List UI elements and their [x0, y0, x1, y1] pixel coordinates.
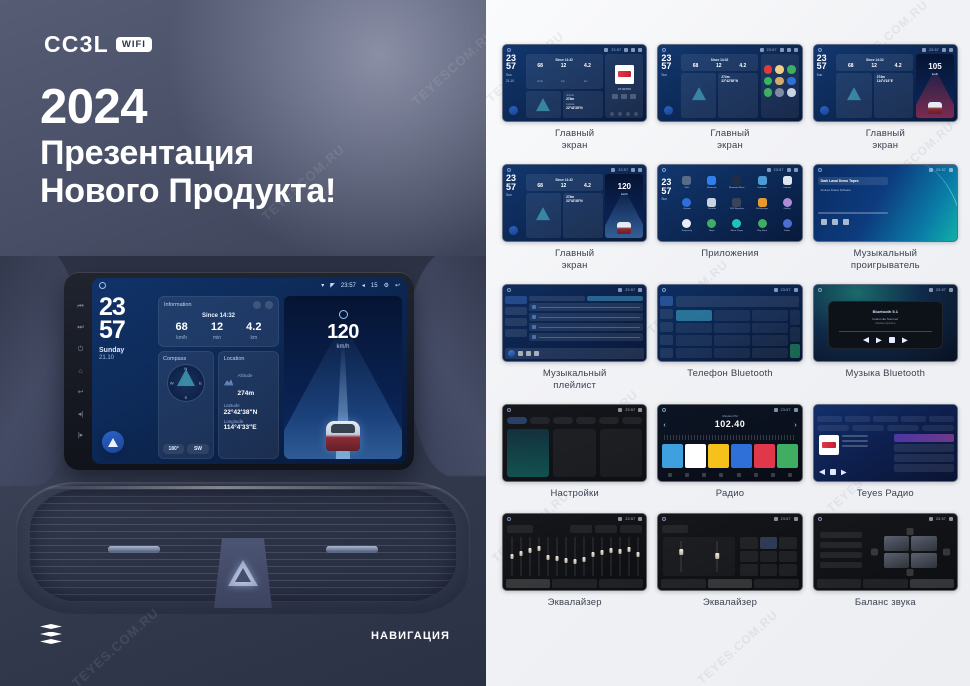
- stop-icon[interactable]: [830, 469, 836, 475]
- preset-6[interactable]: [777, 444, 798, 468]
- information-card[interactable]: Since 14:32 68 12 4.2: [526, 174, 603, 191]
- reset-button[interactable]: [570, 525, 592, 533]
- bluetooth-music-app-icon[interactable]: [732, 176, 741, 185]
- more-card[interactable]: [600, 429, 642, 477]
- power-key[interactable]: ⏻: [78, 346, 84, 353]
- tab-genres[interactable]: [845, 416, 870, 422]
- preset-rock[interactable]: [779, 537, 796, 549]
- frequency-scale[interactable]: [664, 435, 795, 440]
- tab-recent[interactable]: [929, 416, 954, 422]
- key-0[interactable]: [714, 348, 750, 359]
- band-slider[interactable]: [553, 537, 560, 576]
- progress-bar[interactable]: [839, 331, 932, 332]
- settings-tabs[interactable]: [507, 417, 642, 424]
- sidebar-item-folders[interactable]: [505, 329, 527, 337]
- hazard-light-button[interactable]: [214, 538, 272, 608]
- dialer-sidebar[interactable]: [660, 296, 673, 358]
- volume-down-key[interactable]: ◂|: [78, 411, 83, 418]
- load-preset-button[interactable]: [620, 525, 642, 533]
- tab-eq[interactable]: [661, 579, 705, 588]
- speaker-front-left[interactable]: [884, 536, 910, 551]
- key-9[interactable]: [752, 335, 788, 346]
- station-row[interactable]: [894, 444, 954, 452]
- gallery-item[interactable]: 23:57 23 57 Sun Since 14:: [502, 164, 647, 271]
- dial-pad[interactable]: [676, 310, 787, 358]
- tab-balance[interactable]: [552, 579, 596, 588]
- teyes-radio-filters[interactable]: [817, 425, 954, 431]
- band-slider[interactable]: [535, 537, 542, 576]
- bass-treble-sliders[interactable]: [663, 537, 735, 576]
- balance-down-button[interactable]: [907, 569, 914, 576]
- location-card[interactable]: Altitude 274m Latitude 22°42'38"N: [563, 91, 603, 119]
- balance-right-value[interactable]: [820, 562, 862, 568]
- track-row[interactable]: [529, 303, 643, 311]
- thumbnail-sound-balance[interactable]: 23:57: [813, 513, 958, 591]
- navigation-fab-button[interactable]: [509, 226, 518, 235]
- head-unit-hard-keys[interactable]: ⏮ ⏭ ⏻ ⌂ ↩ ◂| |▸: [69, 278, 92, 464]
- tab-eq[interactable]: [817, 579, 861, 588]
- controls-app-icon[interactable]: [707, 198, 716, 207]
- teyes-radio-controls[interactable]: [819, 469, 847, 475]
- balance-stage[interactable]: [872, 530, 949, 574]
- speed-widget[interactable]: 120 km/h: [284, 296, 402, 459]
- tab-tune[interactable]: [754, 579, 798, 588]
- key-1[interactable]: [676, 310, 712, 321]
- preset-custom[interactable]: [760, 551, 777, 563]
- sidebar-item-favorites[interactable]: [505, 318, 527, 326]
- navigation-fab-button[interactable]: [664, 106, 673, 115]
- speaker-rear-right[interactable]: [911, 553, 937, 568]
- band-slider[interactable]: [616, 537, 623, 576]
- app-tile[interactable]: Music Player: [726, 219, 747, 238]
- spotify-shortcut-icon[interactable]: [764, 77, 773, 86]
- thumbnail-equalizer-presets[interactable]: 23:57: [657, 513, 802, 591]
- head-unit-screen[interactable]: ▾ ◤ 23:57 ◂ 15 ⚙ ↩ 23 57 Sunday 21.10: [92, 278, 407, 464]
- sidebar-item-albums[interactable]: [505, 307, 527, 315]
- back-icon[interactable]: ↩: [395, 282, 400, 289]
- filter-rock[interactable]: [887, 425, 919, 431]
- tab-system[interactable]: [576, 417, 596, 424]
- information-card[interactable]: Since 14:32 68 12 4.2: [836, 54, 913, 71]
- band-slider[interactable]: [634, 537, 641, 576]
- sidebar-item-call-log[interactable]: [660, 335, 673, 345]
- thumbnail-playlist[interactable]: 23:57: [502, 284, 647, 362]
- camera-shortcut-icon[interactable]: [775, 77, 784, 86]
- sidebar-item-tracks[interactable]: [505, 296, 527, 304]
- app-tile[interactable]: Calculator: [752, 176, 773, 195]
- band-icon[interactable]: [668, 473, 672, 477]
- slider-handle[interactable]: [546, 555, 549, 560]
- apps-icon[interactable]: [788, 473, 792, 477]
- progress-bar[interactable]: [818, 212, 889, 214]
- call-icon[interactable]: [790, 344, 800, 359]
- app-tile[interactable]: Bluetooth Music: [726, 176, 747, 195]
- thumbnail-apps[interactable]: 23:57 23 57 Sun WiFi Bluetooth Bluetooth…: [657, 164, 802, 242]
- location-card[interactable]: Location Altitude 274m Latitude: [218, 351, 279, 459]
- sidebar-item-contacts[interactable]: [660, 309, 673, 319]
- information-card[interactable]: Since 14:32 68 12 4.2: [681, 54, 758, 71]
- app-tile[interactable]: Kaspersky: [676, 219, 697, 238]
- preset-jazz[interactable]: [740, 551, 757, 563]
- slider-handle[interactable]: [618, 549, 621, 554]
- tab-stations[interactable]: [817, 416, 842, 422]
- slider-handle[interactable]: [591, 552, 594, 557]
- sidebar-item-settings[interactable]: [660, 348, 673, 358]
- tab-eq[interactable]: [506, 579, 550, 588]
- preset-1[interactable]: [662, 444, 683, 468]
- key-7[interactable]: [676, 335, 712, 346]
- slider-handle[interactable]: [537, 546, 540, 551]
- navigation-fab-button[interactable]: [509, 106, 518, 115]
- equalizer-footer-tabs[interactable]: [817, 579, 954, 588]
- play-pause-icon[interactable]: [621, 94, 627, 99]
- key-2[interactable]: [714, 310, 750, 321]
- kaspersky-app-icon[interactable]: [682, 219, 691, 228]
- location-card[interactable]: 274m 114°4'33"E: [874, 73, 914, 119]
- next-icon[interactable]: [630, 94, 636, 99]
- thumbnail-music-player[interactable]: 23:57 Dark Laval Demo Tapes Andrew Dodes…: [813, 164, 958, 242]
- files-shortcut-icon[interactable]: [787, 77, 796, 86]
- balance-left-button[interactable]: [871, 549, 878, 556]
- filter-jazz[interactable]: [922, 425, 954, 431]
- information-card[interactable]: Information Since 14:32 68 km/h: [158, 296, 279, 347]
- compass-card[interactable]: [836, 73, 872, 119]
- equalizer-footer-tabs[interactable]: [661, 579, 798, 588]
- settings-icon[interactable]: [771, 473, 775, 477]
- preset-country[interactable]: [779, 564, 796, 576]
- bass-slider[interactable]: [678, 541, 684, 572]
- media-controls[interactable]: [612, 94, 636, 99]
- station-row[interactable]: [894, 464, 954, 472]
- gallery-app-icon[interactable]: [783, 198, 792, 207]
- calculator-app-icon[interactable]: [758, 176, 767, 185]
- slider-handle[interactable]: [636, 552, 639, 557]
- pause-icon[interactable]: [526, 351, 531, 356]
- gallery-item[interactable]: 23:57: [502, 284, 647, 391]
- location-card[interactable]: 274m 22°42'38"N: [718, 73, 758, 119]
- slider-handle[interactable]: [528, 548, 531, 553]
- speaker-quadrants[interactable]: [884, 536, 937, 568]
- all-apps-shortcut-icon[interactable]: [787, 88, 796, 97]
- settings-cards[interactable]: [507, 429, 642, 477]
- compass-card[interactable]: Compass N S W E 180° SW: [158, 351, 214, 459]
- key-star[interactable]: [676, 348, 712, 359]
- thumbnail-bluetooth-music[interactable]: 23:57 Bluetooth 5.1 Feels Like Summer Ch…: [813, 284, 958, 362]
- tab-tune[interactable]: [599, 579, 643, 588]
- navigation-fab-button[interactable]: [820, 106, 829, 115]
- preset-classic[interactable]: [760, 537, 777, 549]
- gallery-item[interactable]: 23:57 23 57 Sun Since 14:: [813, 44, 958, 151]
- browser-shortcut-icon[interactable]: [775, 65, 784, 74]
- equalizer-band-sliders[interactable]: [508, 537, 641, 576]
- speaker-front-right[interactable]: [911, 536, 937, 551]
- gallery-item[interactable]: 23:57: [657, 513, 802, 609]
- slider-handle[interactable]: [627, 547, 630, 552]
- play-store-app-icon[interactable]: [758, 219, 767, 228]
- stop-icon[interactable]: [889, 337, 895, 343]
- band-slider[interactable]: [562, 537, 569, 576]
- gallery-item[interactable]: 23:57 23 57 Sun WiFi Bluetooth Bluetooth…: [657, 164, 802, 271]
- gallery-item[interactable]: 23:57: [657, 284, 802, 391]
- key-3[interactable]: [752, 310, 788, 321]
- equalizer-footer-tabs[interactable]: [506, 579, 643, 588]
- now-playing-row[interactable]: Dark Laval Demo Tapes: [818, 177, 889, 185]
- radio-presets[interactable]: [662, 444, 797, 468]
- dock-icon[interactable]: [634, 112, 638, 116]
- app-shortcut-rail[interactable]: [761, 54, 799, 118]
- dialer-actions[interactable]: [790, 310, 800, 358]
- app-tile[interactable]: Chrome: [676, 198, 697, 217]
- bluetooth-controls[interactable]: [829, 337, 942, 343]
- wifi-app-icon[interactable]: [682, 176, 691, 185]
- key-5[interactable]: [714, 323, 750, 334]
- dock-icon[interactable]: [626, 112, 630, 116]
- thumbnail-settings[interactable]: 23:57: [502, 404, 647, 482]
- thumbnail-home-media[interactable]: 23:57 23 57 Sun 21.10: [502, 44, 647, 122]
- app-tile[interactable]: Camera: [777, 176, 798, 195]
- location-card[interactable]: 274m 22°42'38"N: [563, 193, 603, 239]
- slider-handle[interactable]: [680, 549, 684, 555]
- filter-all[interactable]: [817, 425, 849, 431]
- key-8[interactable]: [714, 335, 750, 346]
- tab-extra[interactable]: [622, 417, 642, 424]
- loc-icon[interactable]: [702, 473, 706, 477]
- band-slider[interactable]: [598, 537, 605, 576]
- preset-2[interactable]: [685, 444, 706, 468]
- preset-grid[interactable]: [740, 537, 796, 576]
- preset-4[interactable]: [731, 444, 752, 468]
- slider-handle[interactable]: [510, 554, 513, 559]
- track-row[interactable]: [529, 323, 643, 331]
- preset-flat[interactable]: [760, 564, 777, 576]
- playlist-sidebar[interactable]: [505, 296, 527, 347]
- key-6[interactable]: [752, 323, 788, 334]
- hotspot-card[interactable]: [553, 429, 595, 477]
- app-tile[interactable]: DSP Equalizer: [726, 198, 747, 217]
- next-icon[interactable]: [841, 469, 847, 475]
- dock-icon[interactable]: [610, 112, 614, 116]
- band-slider[interactable]: [580, 537, 587, 576]
- app-tile[interactable]: Bluetooth: [701, 176, 722, 195]
- app-grid[interactable]: WiFi Bluetooth Bluetooth Music Calculato…: [676, 176, 797, 238]
- player-controls[interactable]: [818, 219, 889, 225]
- previous-icon[interactable]: [863, 337, 869, 343]
- slider-handle[interactable]: [555, 556, 558, 561]
- previous-icon[interactable]: [518, 351, 523, 356]
- media-dock[interactable]: [608, 112, 640, 116]
- station-row-selected[interactable]: [894, 434, 954, 442]
- tab-preset[interactable]: [708, 579, 752, 588]
- band-slider[interactable]: [544, 537, 551, 576]
- mini-player-bar[interactable]: [505, 348, 644, 359]
- filter-pop[interactable]: [852, 425, 884, 431]
- prev-track-key[interactable]: ⏮: [77, 303, 83, 310]
- home-key[interactable]: ⌂: [78, 368, 82, 375]
- next-icon[interactable]: [843, 219, 849, 225]
- band-slider[interactable]: [589, 537, 596, 576]
- information-actions[interactable]: [253, 301, 273, 309]
- balance-rear-value[interactable]: [820, 542, 862, 548]
- thumbnail-bluetooth-phone[interactable]: 23:57: [657, 284, 802, 362]
- tab-wlan[interactable]: [507, 417, 527, 424]
- play-pause-icon[interactable]: [876, 337, 882, 343]
- thumbnail-home-apps[interactable]: 23:57 23 57 Sun: [657, 44, 802, 122]
- slider-handle[interactable]: [564, 558, 567, 563]
- dsp-equalizer-app-icon[interactable]: [732, 198, 741, 207]
- tab-balance[interactable]: [910, 579, 954, 588]
- dock-icon[interactable]: [618, 112, 622, 116]
- volume-up-key[interactable]: |▸: [78, 432, 83, 439]
- teyes-radio-tabs[interactable]: [817, 416, 954, 422]
- tab-countries[interactable]: [873, 416, 898, 422]
- track-row[interactable]: [529, 333, 643, 341]
- balance-value-list[interactable]: [820, 532, 862, 568]
- slider-handle[interactable]: [609, 548, 612, 553]
- thumbnail-teyes-radio[interactable]: [813, 404, 958, 482]
- speaker-rear-left[interactable]: [884, 553, 910, 568]
- balance-front-value[interactable]: [820, 532, 862, 538]
- preset-5[interactable]: [754, 444, 775, 468]
- maps-shortcut-icon[interactable]: [787, 65, 796, 74]
- thumbnail-radio[interactable]: 23:57 Maylasi FM ‹ 102.40 ›: [657, 404, 802, 482]
- app-tile[interactable]: WiFi: [676, 176, 697, 195]
- gallery-item[interactable]: Teyes Радио: [813, 404, 958, 500]
- play-store-shortcut-icon[interactable]: [764, 88, 773, 97]
- status-bar: 23:57: [503, 165, 646, 174]
- preset-3[interactable]: [708, 444, 729, 468]
- settings-shortcut-icon[interactable]: [775, 88, 784, 97]
- speed-widget[interactable]: 105 km/h: [916, 54, 954, 118]
- pause-icon[interactable]: [832, 219, 838, 225]
- balance-right-button[interactable]: [943, 549, 950, 556]
- tab-local[interactable]: [529, 296, 585, 301]
- band-slider[interactable]: [571, 537, 578, 576]
- compass-card[interactable]: [681, 73, 717, 119]
- gallery-item[interactable]: 23:57: [502, 404, 647, 500]
- thumbnail-home-speed-red[interactable]: 23:57 23 57 Sun Since 14:: [813, 44, 958, 122]
- gallery-item[interactable]: 23:57 Bluetooth 5.1 Feels Like Summer Ch…: [813, 284, 958, 391]
- balance-left-value[interactable]: [820, 552, 862, 558]
- information-card[interactable]: Since 14:32 68km/h 12min 4.2km: [526, 54, 603, 89]
- key-hash[interactable]: [752, 348, 788, 359]
- previous-icon[interactable]: [819, 469, 825, 475]
- previous-icon[interactable]: [821, 219, 827, 225]
- tab-preset[interactable]: [863, 579, 907, 588]
- youtube-shortcut-icon[interactable]: [764, 65, 773, 74]
- thumbnail-home-speed-blue[interactable]: 23:57 23 57 Sun Since 14:: [502, 164, 647, 242]
- slider-handle[interactable]: [573, 559, 576, 564]
- thumbnail-equalizer-bands[interactable]: 23:57: [502, 513, 647, 591]
- phone-number-field[interactable]: [676, 296, 798, 307]
- playlist-tabs[interactable]: [529, 296, 643, 301]
- gallery-item[interactable]: 23:57: [502, 513, 647, 609]
- gallery-item[interactable]: 23:57: [813, 513, 958, 609]
- list-icon[interactable]: [754, 473, 758, 477]
- tab-online[interactable]: [587, 296, 643, 301]
- favorite-icon[interactable]: [790, 310, 800, 325]
- gallery-item[interactable]: 23:57 Maylasi FM ‹ 102.40 ›: [657, 404, 802, 500]
- chrome-app-icon[interactable]: [682, 198, 691, 207]
- refresh-icon[interactable]: [253, 301, 261, 309]
- save-preset-button[interactable]: [595, 525, 617, 533]
- next-station-icon[interactable]: ›: [794, 422, 796, 429]
- treble-slider[interactable]: [714, 541, 720, 572]
- music-player-app-icon[interactable]: [732, 219, 741, 228]
- station-row[interactable]: [894, 454, 954, 462]
- bluetooth-app-icon[interactable]: [707, 176, 716, 185]
- next-icon[interactable]: [902, 337, 908, 343]
- next-track-key[interactable]: ⏭: [77, 324, 83, 331]
- media-widget[interactable]: 07:30 PM: [605, 54, 643, 118]
- compass-card[interactable]: [526, 193, 562, 239]
- gallery-item[interactable]: 23:57 23 57 Sun: [657, 44, 802, 151]
- app-tile[interactable]: Radio: [777, 219, 798, 238]
- eq-icon[interactable]: [737, 473, 741, 477]
- band-slider[interactable]: [625, 537, 632, 576]
- slider-handle[interactable]: [519, 551, 522, 556]
- status-bar: 23:57: [503, 45, 646, 54]
- radio-toolbar[interactable]: [661, 471, 798, 478]
- previous-icon[interactable]: [612, 94, 618, 99]
- app-tile[interactable]: FileManager: [752, 198, 773, 217]
- slider-handle[interactable]: [582, 557, 585, 562]
- station-list[interactable]: [894, 434, 954, 472]
- track-row[interactable]: [529, 313, 643, 321]
- preset-dance[interactable]: [740, 564, 757, 576]
- file-manager-app-icon[interactable]: [758, 198, 767, 207]
- settings-icon[interactable]: ⚙: [384, 282, 389, 289]
- sidebar-item-keypad[interactable]: [660, 296, 673, 306]
- tab-favorites[interactable]: [901, 416, 926, 422]
- equalizer-header-actions[interactable]: [507, 525, 642, 533]
- next-icon[interactable]: [534, 351, 539, 356]
- balance-up-button[interactable]: [907, 528, 914, 535]
- expand-icon[interactable]: [265, 301, 273, 309]
- sidebar-item-search[interactable]: [660, 322, 673, 332]
- preset-vocal[interactable]: [779, 551, 796, 563]
- app-tile[interactable]: Maps: [701, 219, 722, 238]
- wifi-card[interactable]: [507, 429, 549, 477]
- tab-sound[interactable]: [530, 417, 550, 424]
- search-icon[interactable]: [685, 473, 689, 477]
- app-tile[interactable]: Controls: [701, 198, 722, 217]
- speed-widget[interactable]: 120 km/h: [605, 174, 643, 238]
- compass-card[interactable]: [526, 91, 562, 119]
- slider-handle[interactable]: [600, 550, 603, 555]
- navigation-fab-button[interactable]: [102, 431, 124, 453]
- preset-pop[interactable]: [740, 537, 757, 549]
- tab-about[interactable]: [599, 417, 619, 424]
- backspace-icon[interactable]: [790, 327, 800, 342]
- preset-name-badge[interactable]: [662, 525, 688, 533]
- slider-handle[interactable]: [716, 553, 720, 559]
- gallery-item[interactable]: 23:57 Dark Laval Demo Tapes Andrew Dodes…: [813, 164, 958, 271]
- app-tile[interactable]: Gallery: [777, 198, 798, 217]
- tab-display[interactable]: [553, 417, 573, 424]
- gallery-item[interactable]: 23:57 23 57 Sun 21.10: [502, 44, 647, 151]
- camera-app-icon[interactable]: [783, 176, 792, 185]
- app-tile[interactable]: Play Store: [752, 219, 773, 238]
- back-key[interactable]: ↩: [78, 389, 84, 396]
- band-slider[interactable]: [517, 537, 524, 576]
- rds-icon[interactable]: [719, 473, 723, 477]
- band-slider[interactable]: [526, 537, 533, 576]
- radio-app-icon[interactable]: [783, 219, 792, 228]
- key-4[interactable]: [676, 323, 712, 334]
- maps-app-icon[interactable]: [707, 219, 716, 228]
- band-slider[interactable]: [508, 537, 515, 576]
- band-slider[interactable]: [607, 537, 614, 576]
